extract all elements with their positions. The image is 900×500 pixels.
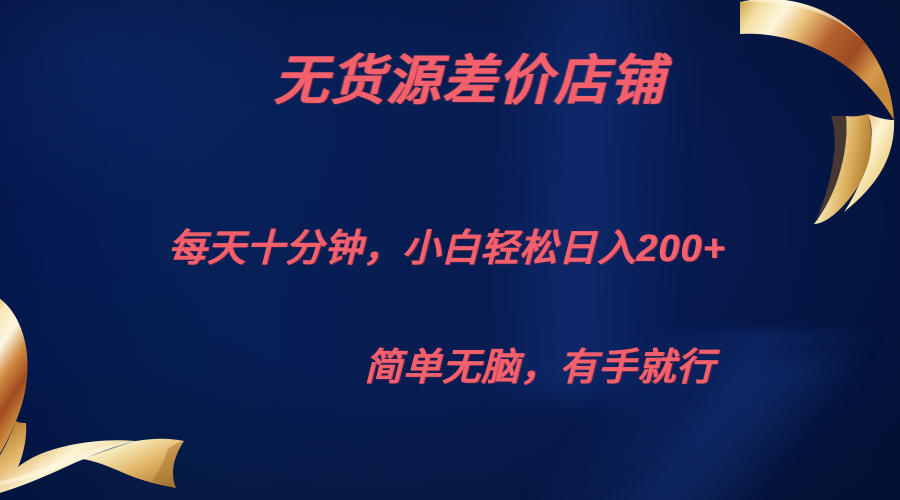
- promo-poster: 无货源差价店铺 每天十分钟，小白轻松日入200+ 简单无脑，有手就行: [0, 0, 900, 500]
- subtitle-line-2: 简单无脑，有手就行: [364, 336, 715, 391]
- text-layer: 无货源差价店铺 每天十分钟，小白轻松日入200+ 简单无脑，有手就行: [0, 0, 900, 500]
- page-title: 无货源差价店铺: [274, 52, 666, 110]
- subtitle-line-1: 每天十分钟，小白轻松日入200+: [168, 217, 726, 272]
